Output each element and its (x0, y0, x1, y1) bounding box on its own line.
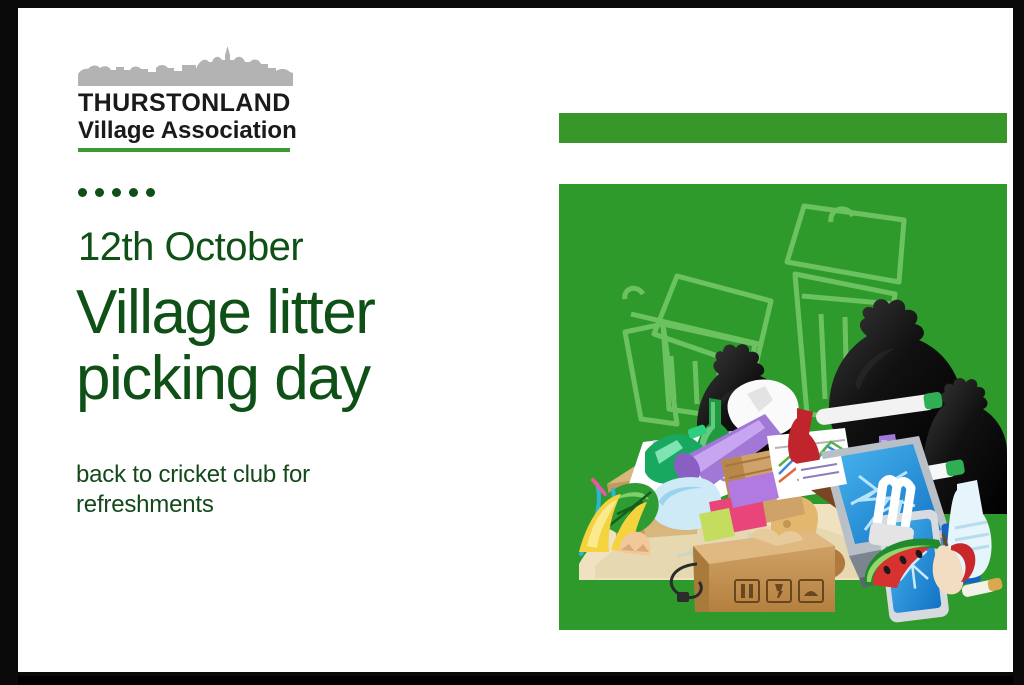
headline-line-2: picking day (76, 346, 374, 412)
logo-title: THURSTONLAND (78, 90, 338, 117)
logo-subtitle: Village Association (78, 118, 338, 144)
organisation-logo: THURSTONLAND Village Association (60, 38, 300, 153)
bottom-cut-strip (18, 676, 1013, 685)
green-accent-bar (559, 113, 1007, 143)
cable-plug (677, 592, 689, 602)
dot-5 (146, 188, 155, 197)
poster-canvas: THURSTONLAND Village Association 12th Oc… (0, 0, 1024, 685)
dot-3 (112, 188, 121, 197)
dot-1 (78, 188, 87, 197)
event-date: 12th October (78, 223, 303, 271)
dot-2 (95, 188, 104, 197)
logo-underline-rule (78, 148, 290, 152)
headline-line-1: Village litter (76, 278, 374, 347)
poster-card: THURSTONLAND Village Association 12th Oc… (18, 8, 1013, 672)
event-headline: Village litter picking day (76, 280, 374, 412)
pile-of-garbage-illustration (559, 184, 1007, 630)
green-paper (699, 508, 735, 542)
event-subline: back to cricket club for refreshments (76, 460, 406, 520)
illustration-panel (559, 184, 1007, 630)
dot-4 (129, 188, 138, 197)
village-skyline-silhouette-icon (78, 46, 293, 86)
decorative-dots (78, 188, 155, 197)
